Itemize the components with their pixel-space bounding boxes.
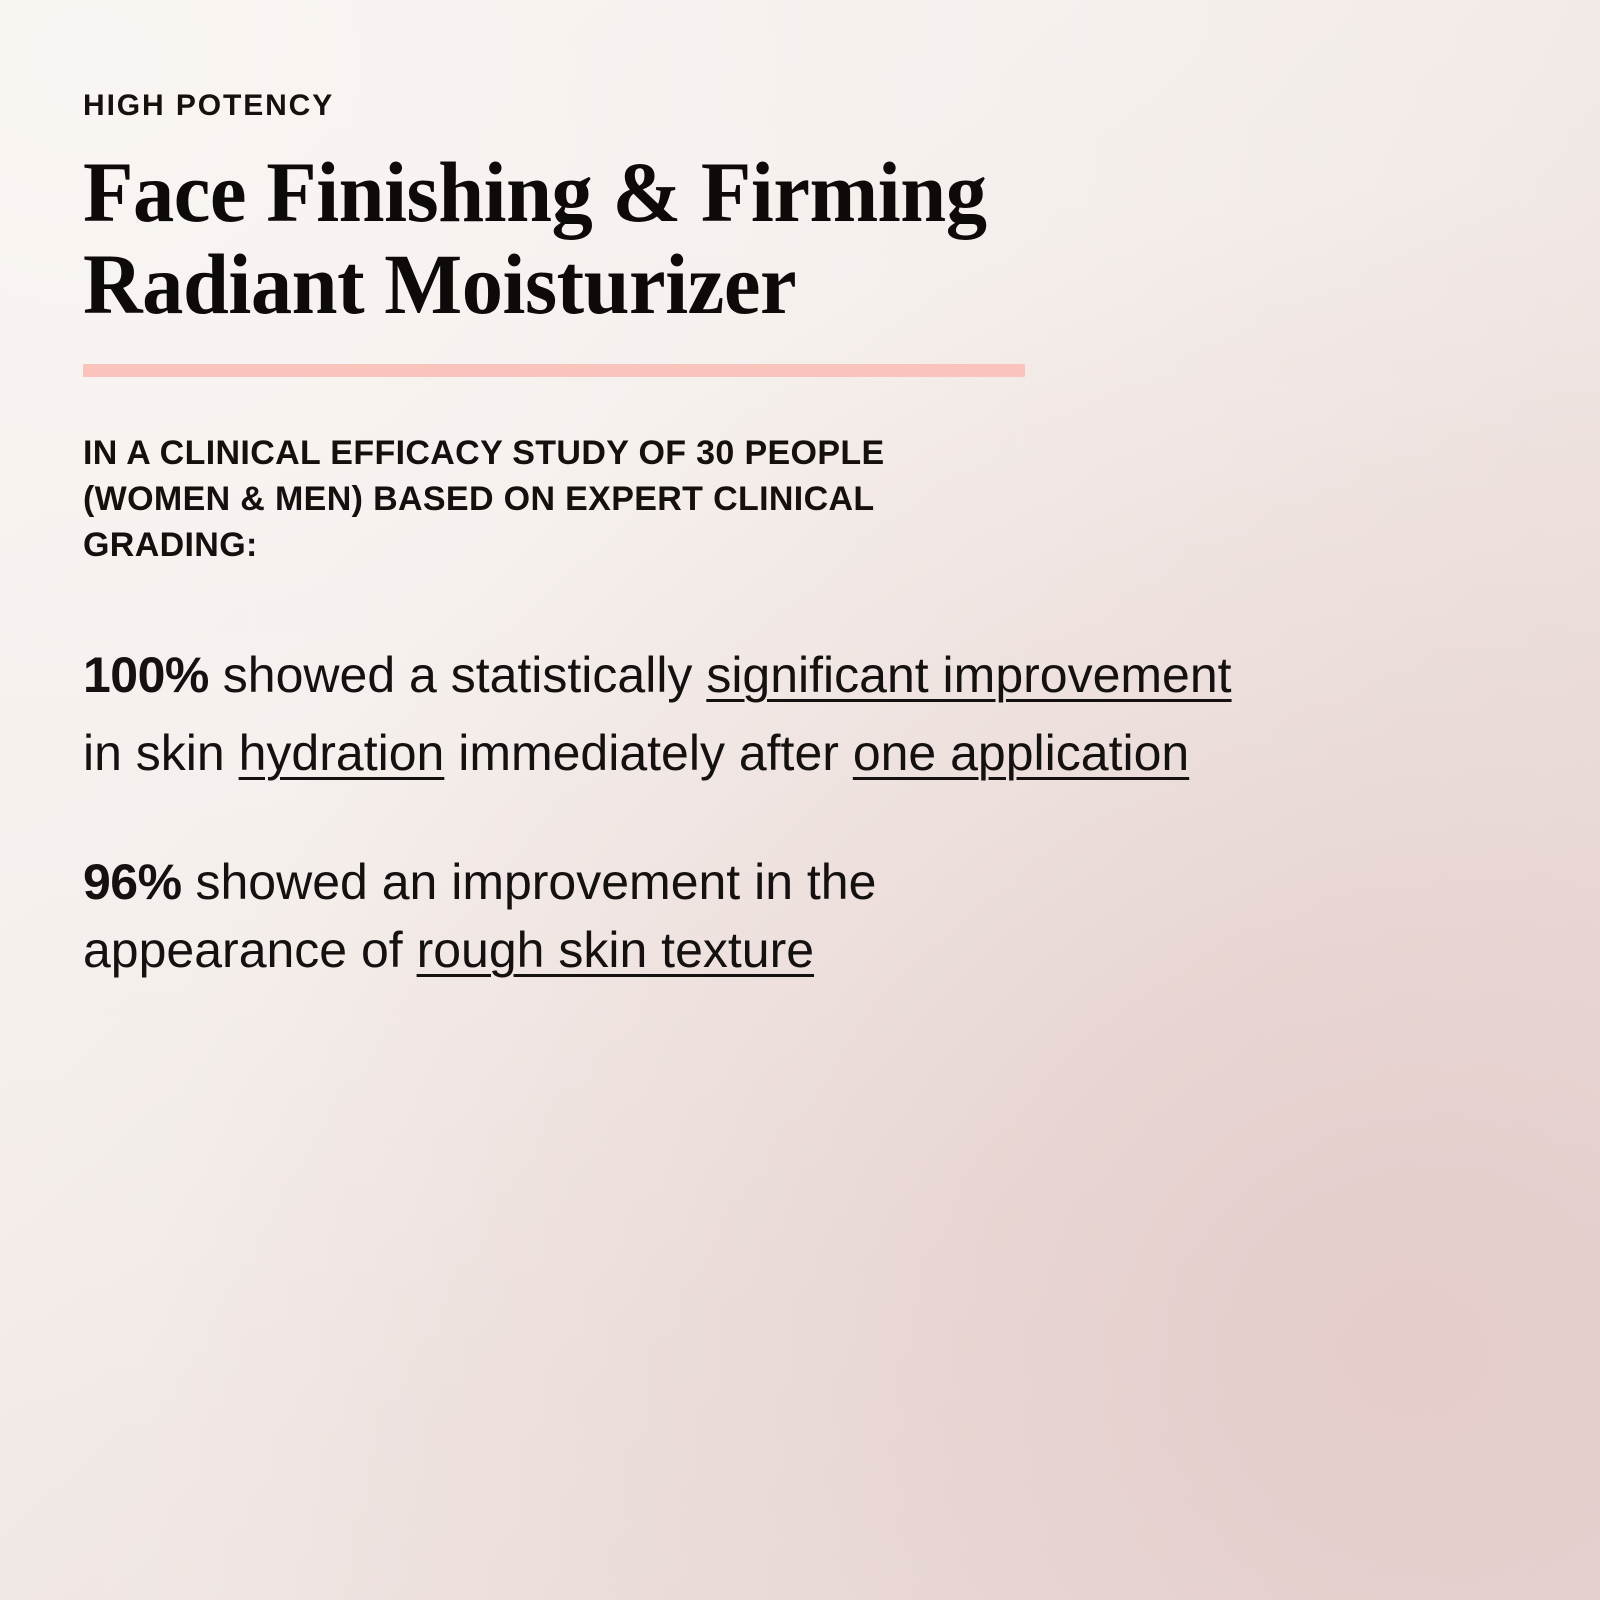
study-description-line-3: GRADING: (83, 522, 1093, 568)
stat-underlined-one-application: one application (853, 725, 1189, 781)
eyebrow-label: HIGH POTENCY (83, 88, 1283, 124)
page-title-line-1: Face Finishing & Firming (83, 146, 1053, 238)
content-column: HIGH POTENCY Face Finishing & Firming Ra… (83, 88, 1283, 984)
product-claims-card: HIGH POTENCY Face Finishing & Firming Ra… (0, 0, 1600, 1600)
study-description-line-2: (WOMEN & MEN) BASED ON EXPERT CLINICAL (83, 476, 1093, 522)
stat-value-96: 96% (83, 854, 182, 910)
study-description-line-1: IN A CLINICAL EFFICACY STUDY OF 30 PEOPL… (83, 430, 1093, 476)
page-title-line-2: Radiant Moisturizer (83, 238, 1053, 330)
stat-claim-texture: 96% showed an improvement in the appeara… (83, 848, 1143, 984)
stat-claim-hydration: 100% showed a statistically significant … (83, 636, 1243, 792)
stat-text-segment: in skin (83, 725, 239, 781)
stat-text-segment: immediately after (444, 725, 852, 781)
stat-underlined-significant-improvement: significant improvement (706, 647, 1231, 703)
stat-text-segment: showed a statistically (209, 647, 706, 703)
accent-divider (83, 364, 1025, 377)
page-title: Face Finishing & Firming Radiant Moistur… (83, 146, 1053, 330)
stat-underlined-rough-skin-texture: rough skin texture (417, 922, 814, 978)
study-description: IN A CLINICAL EFFICACY STUDY OF 30 PEOPL… (83, 430, 1093, 568)
stat-underlined-hydration: hydration (239, 725, 445, 781)
stat-value-100: 100% (83, 647, 209, 703)
